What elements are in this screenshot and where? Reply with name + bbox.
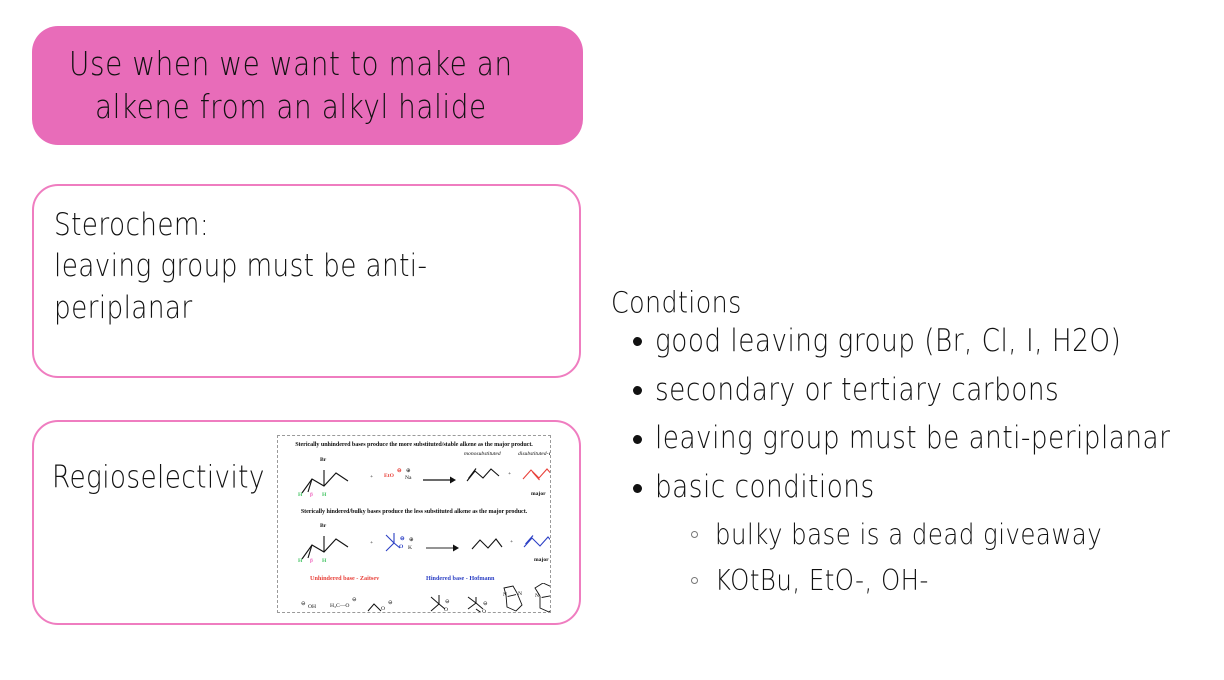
base-triethylmethoxide-structure <box>466 593 496 613</box>
list-item-label: leaving group must be anti-periplanar <box>655 412 1170 466</box>
row1-plus-1: + <box>370 474 373 480</box>
row1-reaction-arrow <box>423 475 457 485</box>
regioselectivity-card: Regioselectivity Sterically unhindered b… <box>32 420 581 625</box>
row1-plus-2: + <box>508 471 511 477</box>
row1-bromine-label: Br <box>320 457 326 463</box>
list-item: KOtBu, EtO-, OH- <box>611 558 1216 604</box>
row2-plus-1: + <box>370 540 373 546</box>
bullet-dot-icon <box>633 386 642 395</box>
base-hydroxide-charge: ⊖ <box>301 601 306 607</box>
row1-h-right-label: H <box>322 492 326 498</box>
row2-bromine-label: Br <box>320 523 326 529</box>
row1-product1-label: monosubstituted <box>464 451 501 457</box>
stereochem-card: Sterochem: leaving group must be anti- p… <box>32 184 581 378</box>
row1-product1-structure <box>465 465 503 487</box>
base-hydroxide-formula: OH <box>308 604 316 610</box>
regioselectivity-label: Regioselectivity <box>52 459 265 495</box>
base-ethoxide-charge: ⊖ <box>388 600 393 606</box>
row2-reaction-arrow <box>426 543 460 553</box>
row2-h-left-label: H <box>298 558 302 564</box>
regioselectivity-reaction-figure[interactable]: Sterically unhindered bases produce the … <box>277 435 551 613</box>
bullet-circle-icon <box>691 577 698 584</box>
row2-counterion-charge: ⊕ <box>409 537 414 543</box>
row1-product2-structure <box>521 465 551 487</box>
list-item-label: good leaving group (Br, Cl, I, H2O) <box>655 315 1121 369</box>
list-item: secondary or tertiary carbons <box>611 366 1216 415</box>
row3-right-heading: Hindered base - Hofmann <box>426 575 494 582</box>
base-tbuok-charge: ⊖ <box>445 599 450 605</box>
row1-reagent-charge: ⊖ <box>397 468 402 474</box>
row1-beta-label: β <box>310 492 313 498</box>
list-item: bulky base is a dead giveaway <box>611 512 1216 558</box>
row2-h-right-label: H <box>322 558 326 564</box>
figure-row2-caption: Sterically hindered/bulky bases produce … <box>284 509 544 516</box>
row2-product1-structure <box>470 535 504 555</box>
list-item: leaving group must be anti-periplanar <box>611 414 1216 463</box>
header-callout-card: Use when we want to make an alkene from … <box>32 26 583 145</box>
base-ethoxide-formula: O <box>381 606 385 612</box>
row1-product2-label-a: disubstituted- <box>518 451 548 457</box>
base-dbn-structure <box>498 585 532 613</box>
row3-left-heading: Unhindered base - Zaitsev <box>310 575 379 582</box>
list-item-label: bulky base is a dead giveaway <box>715 510 1102 561</box>
row1-reagent-label: EtO <box>384 473 394 479</box>
bullet-circle-icon <box>691 531 698 538</box>
header-line-1: Use when we want to make an <box>69 45 513 84</box>
row2-plus-2: + <box>510 539 513 545</box>
base-methoxide-charge: ⊖ <box>352 597 357 603</box>
list-item-label: secondary or tertiary carbons <box>655 363 1059 417</box>
stereochem-line-2: periplanar <box>54 285 529 331</box>
header-line-2: alkene from an alkyl halide <box>95 88 487 127</box>
base-dbu-structure <box>530 583 551 613</box>
row2-major-label: major <box>534 557 549 563</box>
figure-row1-caption: Sterically unhindered bases produce the … <box>284 442 544 449</box>
bullet-dot-icon <box>633 337 642 346</box>
row2-reagent-charge: ⊖ <box>400 536 405 542</box>
conditions-bullet-list: good leaving group (Br, Cl, I, H2O) seco… <box>611 317 1216 604</box>
row1-product2-label-b: more stable <box>549 451 551 457</box>
stereochem-line-1: leaving group must be anti- <box>54 243 529 289</box>
row1-counterion-label: Na <box>405 475 412 481</box>
row2-reagent-oxygen: O <box>399 544 403 550</box>
base-triethylmethoxide-charge: ⊖ <box>483 601 488 607</box>
row1-counterion-charge: ⊕ <box>406 468 411 474</box>
header-callout-text: Use when we want to make an alkene from … <box>69 43 513 129</box>
conditions-panel: Condtions good leaving group (Br, Cl, I,… <box>611 286 1216 604</box>
list-item-label: KOtBu, EtO-, OH- <box>715 556 929 607</box>
row2-product2-structure <box>522 533 551 553</box>
row2-beta-label: β <box>310 558 313 564</box>
row2-substrate-structure <box>296 525 366 569</box>
row1-h-left-label: H <box>298 492 302 498</box>
list-item-label: basic conditions <box>655 461 875 515</box>
list-item: good leaving group (Br, Cl, I, H2O) <box>611 317 1216 366</box>
base-tbuok-structure <box>428 593 454 613</box>
row1-major-label: major <box>531 491 546 497</box>
bullet-dot-icon <box>633 484 642 493</box>
row1-substrate-structure <box>296 459 366 503</box>
bullet-dot-icon <box>633 435 642 444</box>
stereochem-title: Sterochem: <box>54 202 529 248</box>
list-item: basic conditions <box>611 463 1216 512</box>
base-methoxide-formula: H₃C—O <box>330 603 349 609</box>
row2-counterion-label: K <box>408 545 412 551</box>
